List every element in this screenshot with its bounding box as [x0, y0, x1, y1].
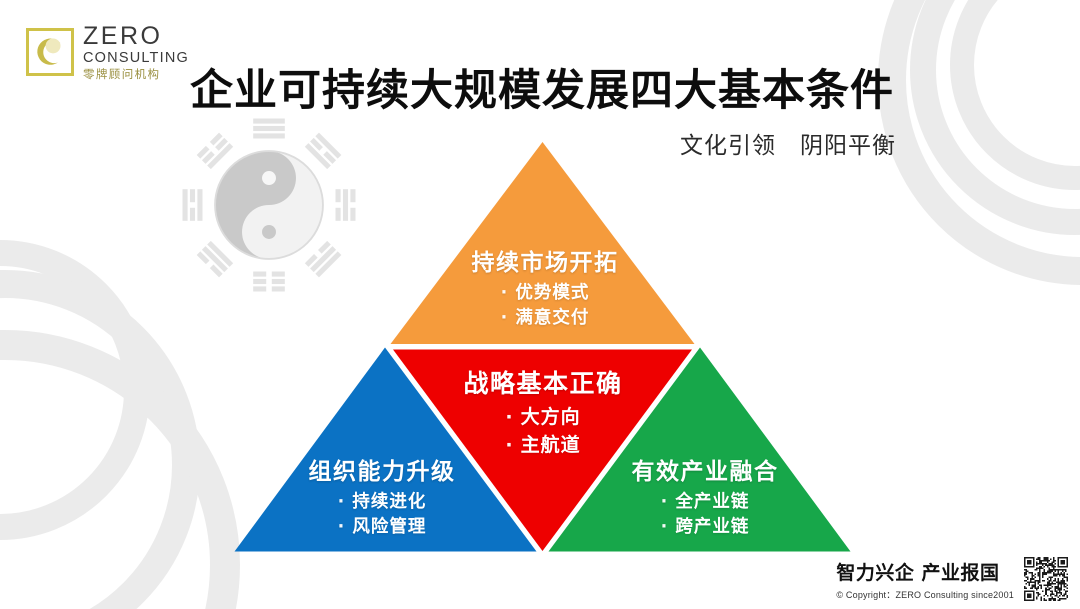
footer-copyright: © Copyright：ZERO Consulting since2001 [836, 588, 1014, 601]
slide-canvas: ZERO CONSULTING 零牌顾问机构 企业可持续大规模发展四大基本条件 … [0, 0, 1080, 609]
pyramid-segments [235, 142, 851, 552]
footer-slogan: 智力兴企 产业报国 [836, 558, 1014, 585]
pyramid-diagram [0, 0, 1080, 609]
footer: 智力兴企 产业报国 © Copyright：ZERO Consulting si… [836, 557, 1068, 601]
qr-code-icon[interactable] [1024, 557, 1068, 601]
pyramid-segment-top[interactable] [391, 142, 695, 344]
footer-text: 智力兴企 产业报国 © Copyright：ZERO Consulting si… [836, 558, 1014, 601]
